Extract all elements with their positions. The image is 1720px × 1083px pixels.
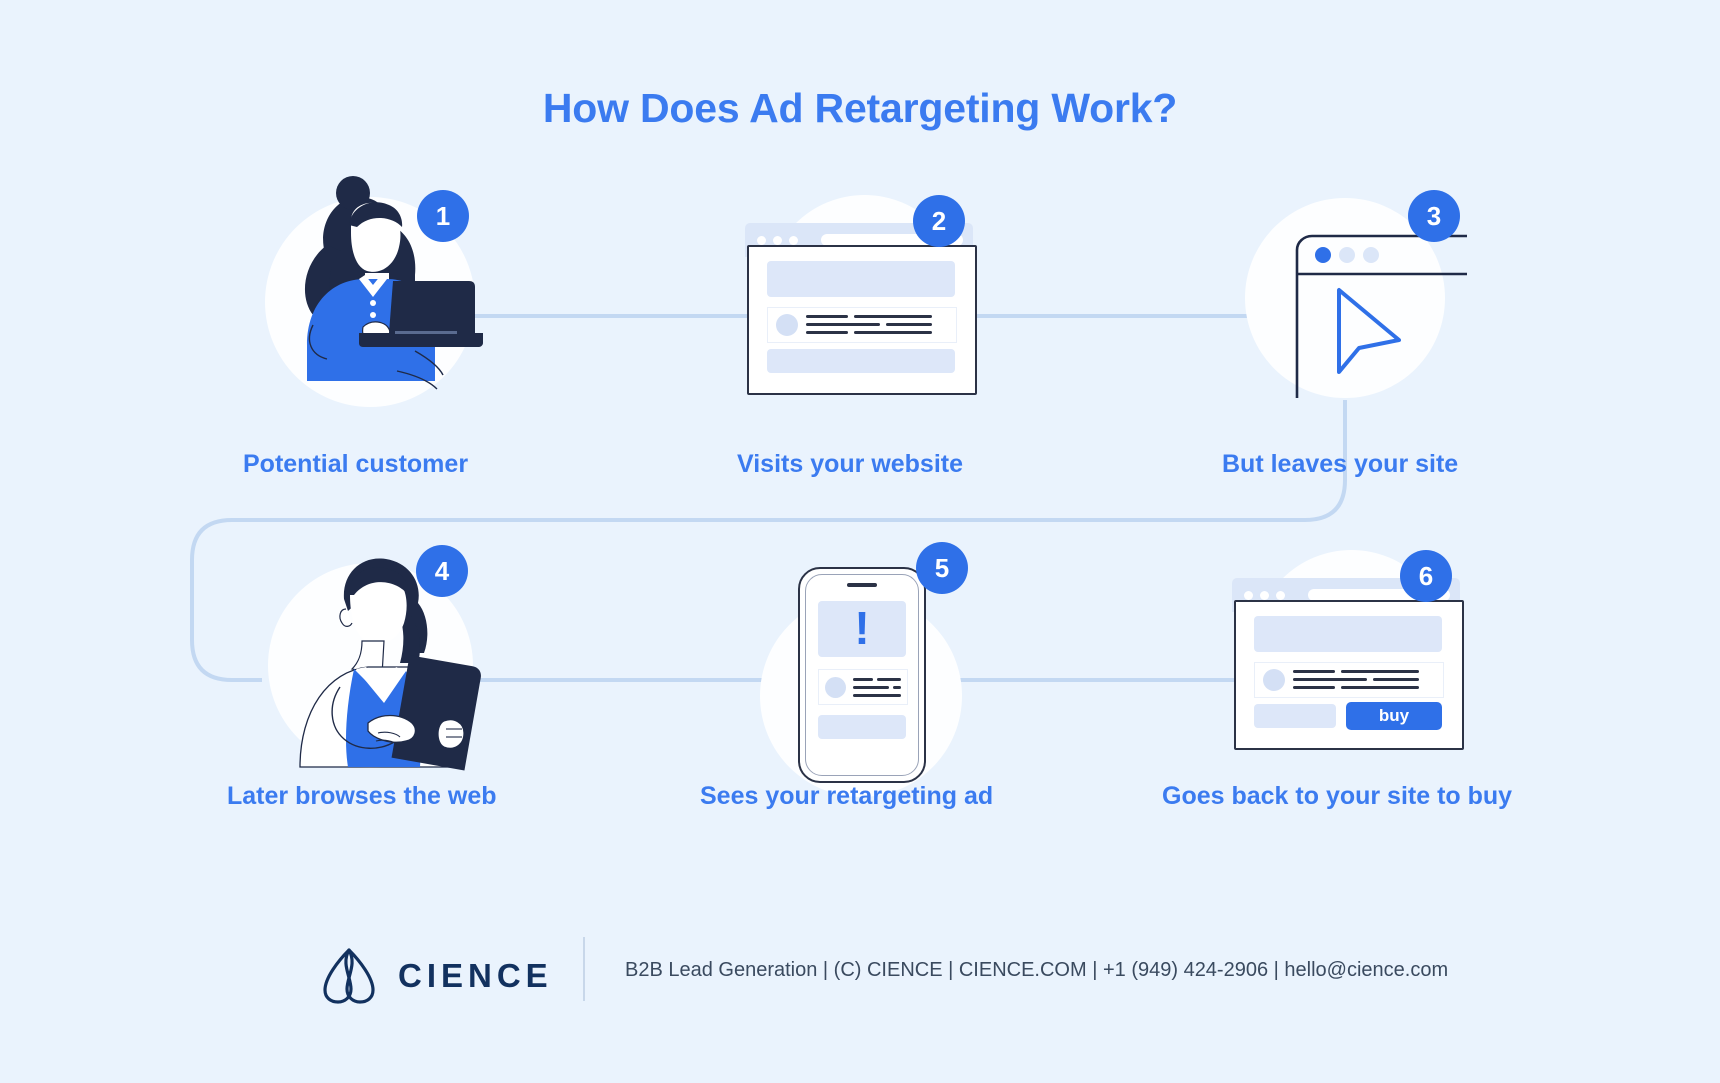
infographic-canvas: How Does Ad Retargeting Work? (0, 0, 1720, 1083)
step-4-caption: Later browses the web (227, 782, 497, 811)
step-2: 2 (745, 195, 990, 395)
step-4: 4 (258, 545, 498, 765)
step-3-caption: But leaves your site (1222, 450, 1458, 479)
hero-block (1254, 616, 1442, 652)
step-6-caption: Goes back to your site to buy (1162, 782, 1512, 811)
cience-logo: CIENCE (318, 947, 553, 1005)
window-dot-icon (1276, 591, 1285, 600)
content-card (818, 669, 908, 705)
footer-info: B2B Lead Generation | (C) CIENCE | CIENC… (625, 959, 1448, 982)
browser-content-area: buy (1234, 600, 1464, 750)
logo-wordmark: CIENCE (398, 957, 553, 995)
browser-window-mockup (745, 223, 977, 395)
window-dot-icon (1315, 247, 1331, 263)
footer-block (1254, 704, 1336, 728)
footer: CIENCE B2B Lead Generation | (C) CIENCE … (0, 945, 1720, 1035)
step-2-badge: 2 (913, 195, 965, 247)
footer-block (767, 349, 955, 373)
step-1-badge: 1 (417, 190, 469, 242)
step-4-badge: 4 (416, 545, 468, 597)
browser-window-buy-mockup: buy (1232, 578, 1464, 750)
step-1-caption: Potential customer (243, 450, 468, 479)
content-card (767, 307, 957, 343)
buy-button[interactable]: buy (1346, 702, 1442, 730)
step-2-caption: Visits your website (737, 450, 963, 479)
cience-mark-icon (318, 947, 380, 1005)
step-3: 3 (1245, 190, 1485, 405)
window-dot-icon (773, 236, 782, 245)
browser-window-cursor-icon (1287, 228, 1467, 398)
window-dot-icon (789, 236, 798, 245)
step-5: ! 5 (760, 545, 1000, 775)
alert-banner: ! (818, 601, 906, 657)
exclamation-icon: ! (818, 601, 906, 657)
browser-content-area (747, 245, 977, 395)
window-dot-icon (757, 236, 766, 245)
footer-divider (583, 937, 585, 1001)
step-6-badge: 6 (1400, 550, 1452, 602)
step-5-badge: 5 (916, 542, 968, 594)
step-3-badge: 3 (1408, 190, 1460, 242)
avatar (1263, 669, 1285, 691)
phone-speaker (847, 583, 877, 587)
window-dot-icon (1260, 591, 1269, 600)
window-dot-icon (1363, 247, 1379, 263)
window-dot-icon (1339, 247, 1355, 263)
step-6: buy 6 (1232, 550, 1477, 750)
step-1: 1 (255, 185, 495, 400)
window-dot-icon (1244, 591, 1253, 600)
avatar (776, 314, 798, 336)
footer-block (818, 715, 906, 739)
content-card (1254, 662, 1444, 698)
phone-with-alert-mockup: ! (798, 567, 926, 783)
hero-block (767, 261, 955, 297)
avatar (825, 677, 846, 698)
step-5-caption: Sees your retargeting ad (700, 782, 993, 811)
